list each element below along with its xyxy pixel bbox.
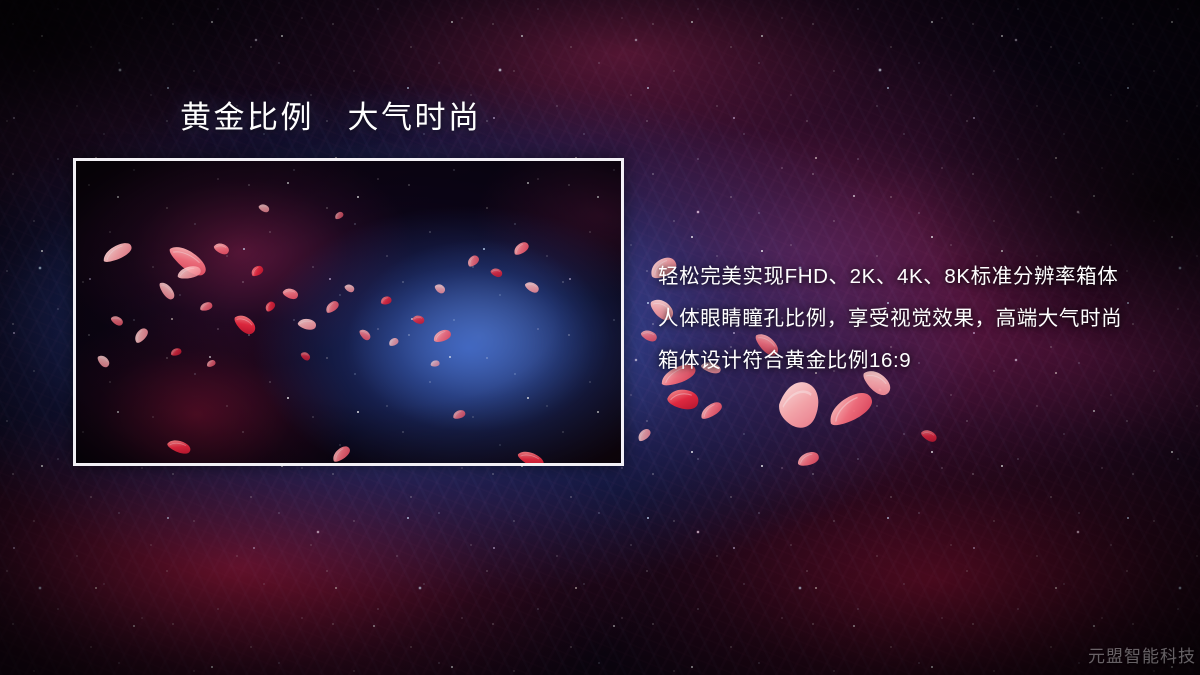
presentation-slide: 黄金比例 大气时尚 轻松完美实现FHD、2K、4K、8K标准分辨率箱体 人体眼睛… bbox=[0, 0, 1200, 675]
body-line-3: 箱体设计符合黄金比例16:9 bbox=[658, 340, 1158, 382]
rose-petal bbox=[794, 448, 821, 469]
rose-petal bbox=[639, 327, 660, 344]
body-text-block: 轻松完美实现FHD、2K、4K、8K标准分辨率箱体 人体眼睛瞳孔比例，享受视觉效… bbox=[658, 256, 1158, 382]
rose-petal bbox=[821, 384, 879, 434]
rose-petal bbox=[665, 386, 702, 413]
body-line-2: 人体眼睛瞳孔比例，享受视觉效果，高端大气时尚 bbox=[658, 298, 1158, 340]
rose-petal bbox=[773, 374, 825, 434]
rose-petal bbox=[635, 426, 653, 444]
body-line-1: 轻松完美实现FHD、2K、4K、8K标准分辨率箱体 bbox=[658, 256, 1158, 298]
rose-petal bbox=[697, 398, 726, 423]
watermark-text: 元盟智能科技 bbox=[1088, 642, 1196, 667]
slide-title: 黄金比例 大气时尚 bbox=[180, 99, 482, 138]
rose-petal bbox=[918, 426, 939, 444]
